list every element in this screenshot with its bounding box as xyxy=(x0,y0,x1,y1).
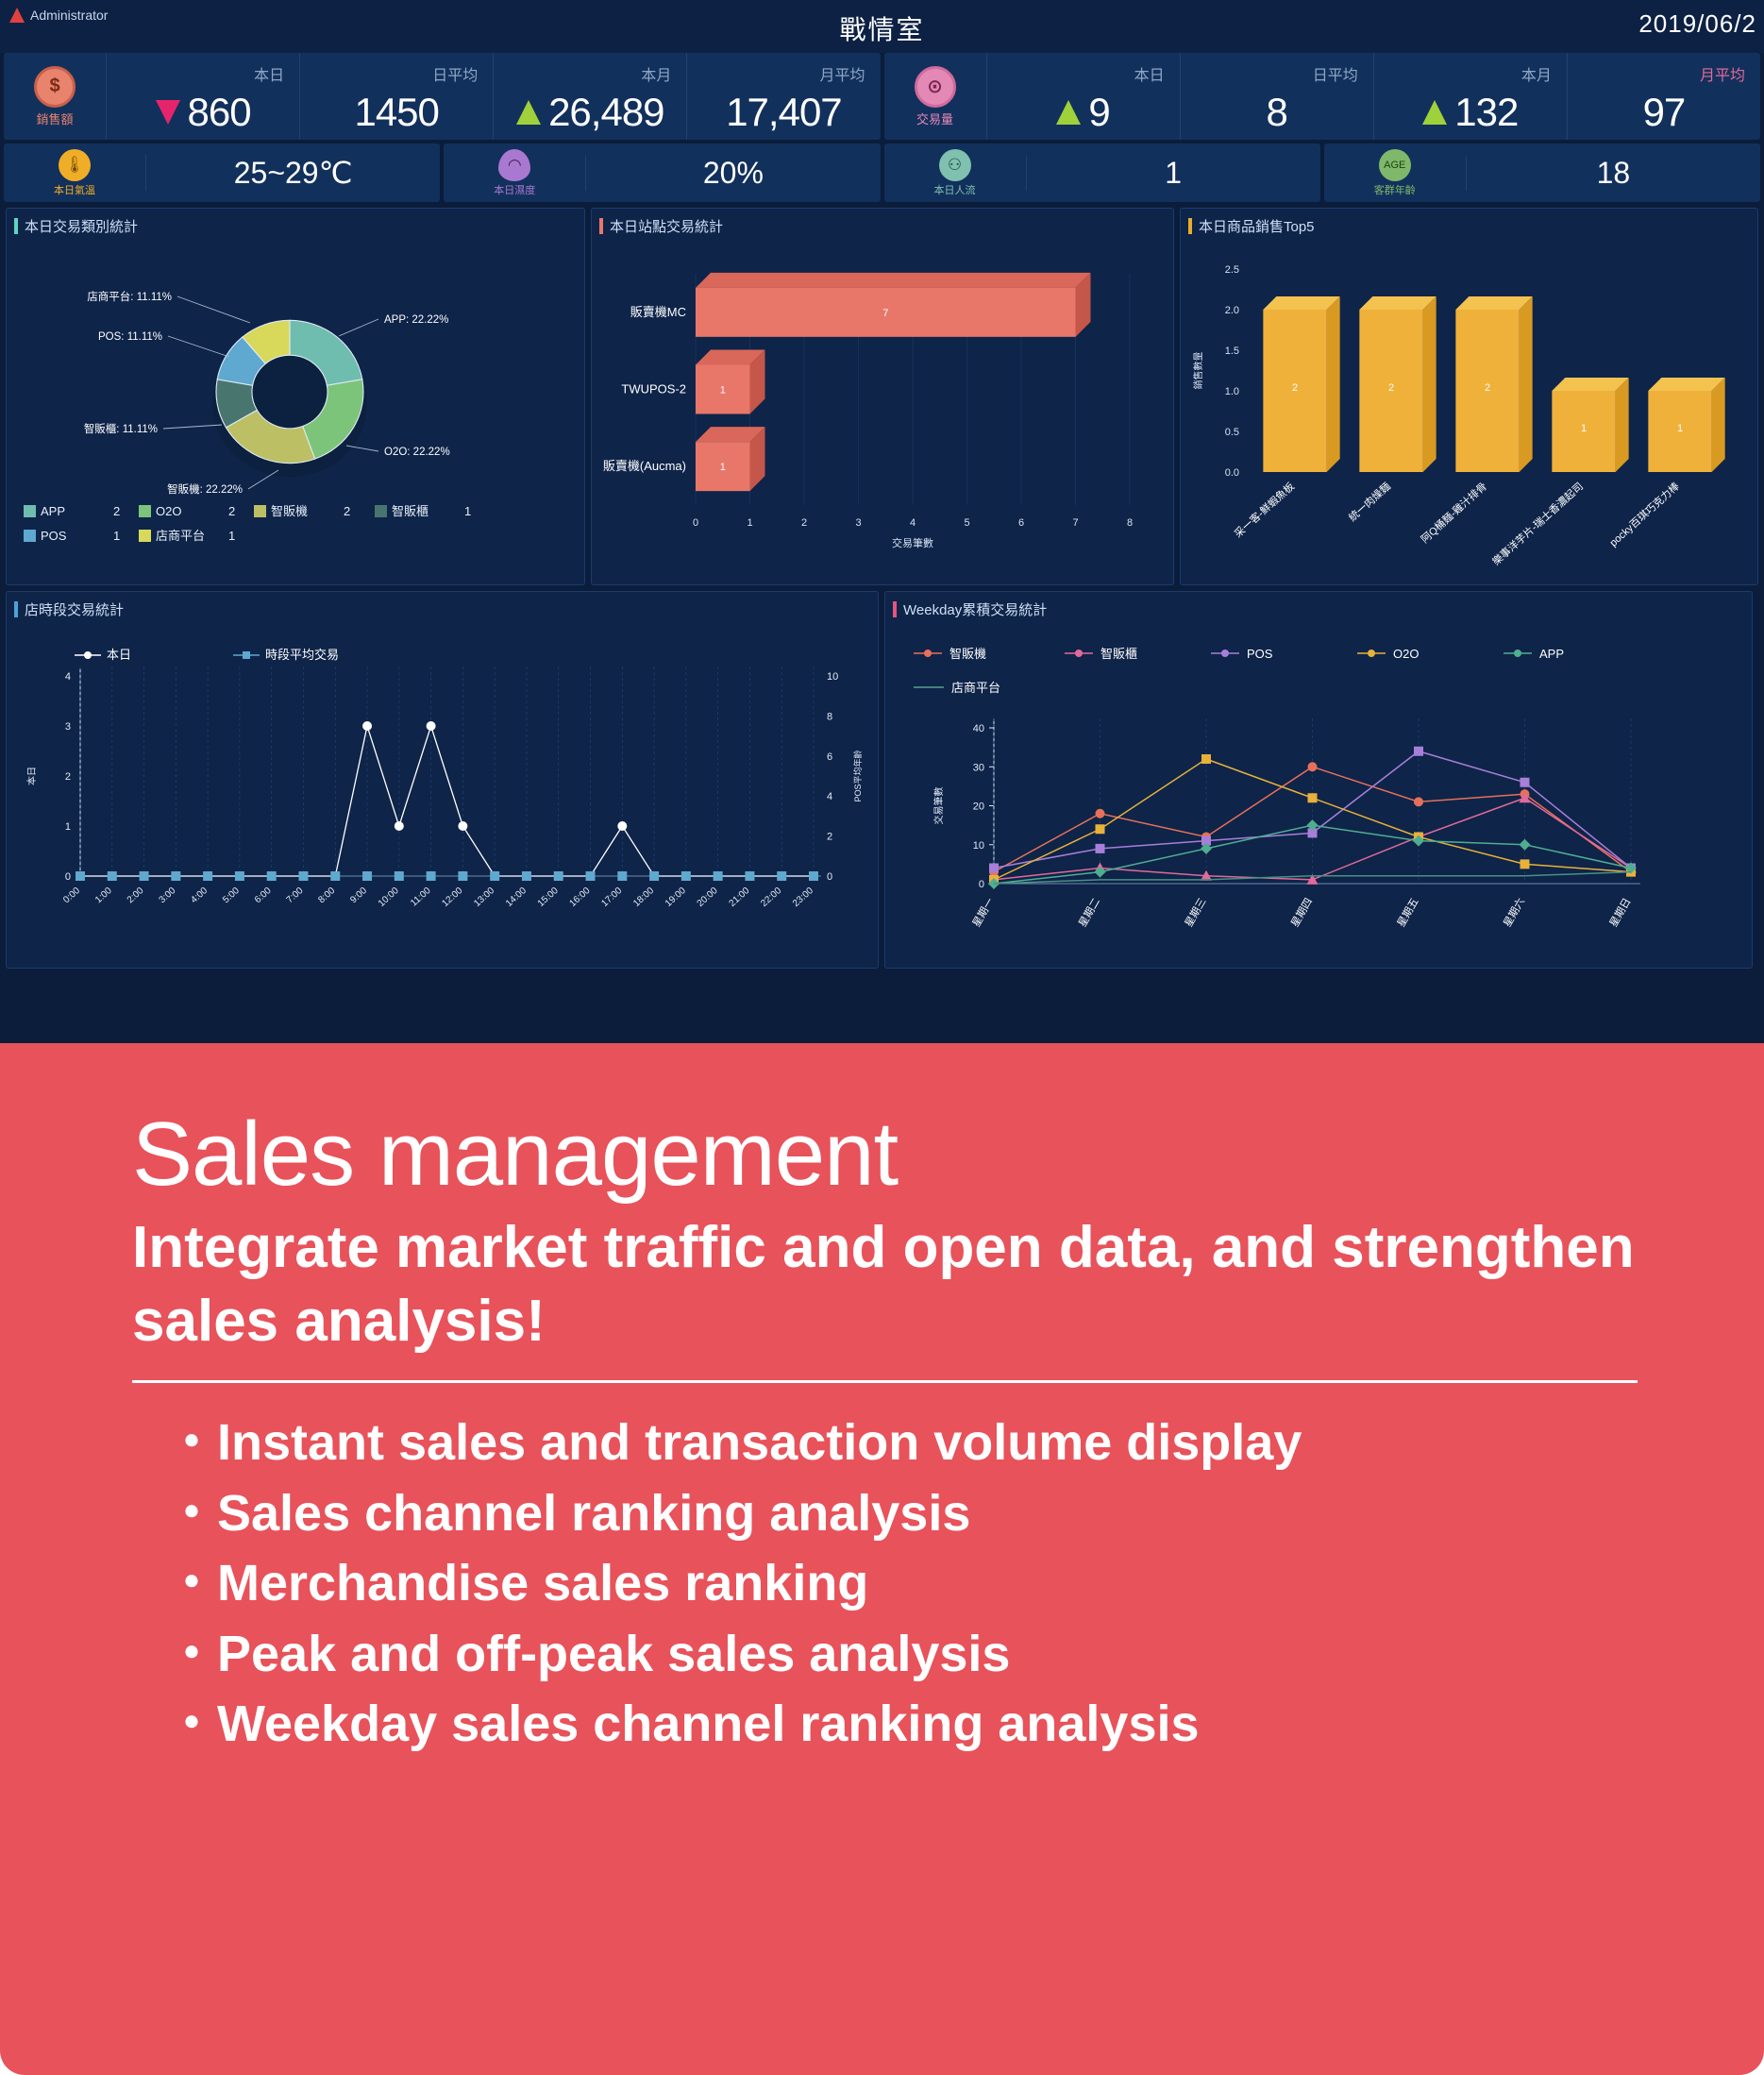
panel-site-stats: 本日站點交易統計 012345678交易筆數7販賣機MC1TWUPOS-21販賣… xyxy=(591,208,1174,585)
kpi-temperature-value: 25~29℃ xyxy=(145,155,440,191)
svg-text:16:00: 16:00 xyxy=(568,886,593,909)
sales-kpi-label: 銷售額 xyxy=(36,110,73,127)
svg-text:0.5: 0.5 xyxy=(1225,427,1239,438)
promo-divider xyxy=(132,1380,1638,1383)
svg-text:20: 20 xyxy=(973,801,984,813)
kpi-period-label: 本日 xyxy=(254,62,284,85)
svg-text:19:00: 19:00 xyxy=(664,886,688,909)
svg-text:1: 1 xyxy=(747,517,752,529)
panel-site-title-row: 本日站點交易統計 xyxy=(592,209,1173,236)
kpi-value: 860 xyxy=(188,93,251,132)
svg-text:18:00: 18:00 xyxy=(631,886,656,909)
svg-text:POS: POS xyxy=(1247,647,1273,661)
promo-section: Sales management Integrate market traffi… xyxy=(0,1043,1764,2075)
svg-text:3: 3 xyxy=(65,721,71,733)
panel-category-stats: 本日交易類別統計 店商平台: 11.11%APP: 22.22%POS: 11.… xyxy=(6,208,585,585)
promo-heading: Sales management xyxy=(132,1109,1674,1200)
panel-hourly-title-row: 店時段交易統計 xyxy=(7,592,878,619)
panel-top5-products: 本日商品銷售Top5 0.00.51.01.52.02.5銷售數量2采一客-鮮蝦… xyxy=(1180,208,1758,585)
svg-text:23:00: 23:00 xyxy=(791,886,815,909)
kpi-primary-row: $ 銷售額 本日 860 日平均 1450 本月 26,4 xyxy=(0,53,1764,140)
svg-text:POS: 11.11%: POS: 11.11% xyxy=(98,331,162,343)
panel-top5-title-row: 本日商品銷售Top5 xyxy=(1181,209,1757,236)
svg-text:販賣機MC: 販賣機MC xyxy=(630,305,686,319)
svg-text:1: 1 xyxy=(228,529,235,543)
svg-text:采一客-鮮蝦魚板: 采一客-鮮蝦魚板 xyxy=(1232,480,1297,540)
svg-text:2:00: 2:00 xyxy=(126,886,146,905)
trend-up-icon xyxy=(1422,100,1447,125)
kpi-period-label: 月平均 xyxy=(819,62,865,85)
svg-text:5:00: 5:00 xyxy=(221,886,242,905)
svg-text:8: 8 xyxy=(1127,517,1133,529)
svg-text:2: 2 xyxy=(1485,382,1490,394)
svg-text:pocky百琪巧克力棒: pocky百琪巧克力棒 xyxy=(1606,480,1682,549)
svg-text:2: 2 xyxy=(827,832,832,843)
kpi-period-label: 本月 xyxy=(641,62,671,85)
svg-text:14:00: 14:00 xyxy=(504,886,529,909)
svg-text:0: 0 xyxy=(827,871,832,883)
transaction-icon: ⊙ xyxy=(915,66,956,108)
panel-row-top: 本日交易類別統計 店商平台: 11.11%APP: 22.22%POS: 11.… xyxy=(0,202,1764,585)
kpi-trans-month-avg: 月平均 97 xyxy=(1567,53,1760,140)
kpi-age-group: AGE 客群年齡 18 xyxy=(1324,143,1760,202)
humidity-drop-icon: ◠ xyxy=(498,149,530,181)
kpi-value: 17,407 xyxy=(726,93,841,132)
svg-text:1: 1 xyxy=(113,529,120,543)
svg-text:2: 2 xyxy=(1292,382,1298,394)
svg-text:星期二: 星期二 xyxy=(1076,896,1102,929)
svg-text:統一肉燥麵: 統一肉燥麵 xyxy=(1346,480,1393,524)
svg-text:8:00: 8:00 xyxy=(316,886,337,905)
svg-text:1: 1 xyxy=(720,462,726,473)
svg-text:樂事洋芋片-瑞士香濃起司: 樂事洋芋片-瑞士香濃起司 xyxy=(1489,480,1586,568)
svg-text:0: 0 xyxy=(979,879,984,890)
svg-text:星期三: 星期三 xyxy=(1183,896,1209,929)
kpi-period-label: 日平均 xyxy=(1313,62,1358,85)
sales-coin-icon: $ xyxy=(34,66,76,108)
svg-text:10:00: 10:00 xyxy=(377,886,401,909)
svg-text:5: 5 xyxy=(964,517,969,529)
current-date: 2019/06/2 xyxy=(1638,9,1756,39)
panel-row-bottom: 店時段交易統計 本日時段平均交易012340246810本日POS平均年齡0:0… xyxy=(0,585,1764,969)
promo-bullet: ・Peak and off-peak sales analysis xyxy=(132,1619,1674,1690)
svg-text:APP: APP xyxy=(41,504,65,518)
svg-text:2: 2 xyxy=(801,517,807,529)
svg-text:時段平均交易: 時段平均交易 xyxy=(265,648,339,662)
kpi-value: 8 xyxy=(1267,93,1287,132)
svg-text:4: 4 xyxy=(827,791,832,802)
svg-text:1.5: 1.5 xyxy=(1225,346,1239,357)
kpi-sales-today: 本日 860 xyxy=(106,53,299,140)
svg-text:6: 6 xyxy=(827,751,832,763)
kpi-sales-daily-avg: 日平均 1450 xyxy=(299,53,493,140)
svg-text:2: 2 xyxy=(1388,382,1394,394)
svg-text:智販櫃: 智販櫃 xyxy=(1100,647,1137,661)
transaction-kpi-label: 交易量 xyxy=(916,110,953,127)
panel-top5-title: 本日商品銷售Top5 xyxy=(1199,216,1315,236)
panel-site-title: 本日站點交易統計 xyxy=(610,216,723,236)
svg-text:7: 7 xyxy=(882,308,888,319)
svg-text:2: 2 xyxy=(65,771,71,783)
kpi-period-label: 本日 xyxy=(1134,62,1165,85)
svg-text:O2O: O2O xyxy=(156,504,181,518)
svg-text:O2O: O2O xyxy=(1393,647,1419,661)
svg-text:6: 6 xyxy=(1018,517,1024,529)
svg-text:3:00: 3:00 xyxy=(158,886,178,905)
svg-text:7:00: 7:00 xyxy=(285,886,306,905)
kpi-temperature: 🌡 本日氣溫 25~29℃ xyxy=(4,143,440,202)
svg-text:店商平台: 店商平台 xyxy=(951,681,1000,695)
kpi-temperature-label: 本日氣溫 xyxy=(54,182,95,197)
trend-down-icon xyxy=(156,100,180,125)
kpi-group-sales: $ 銷售額 本日 860 日平均 1450 本月 26,4 xyxy=(4,53,881,140)
kpi-value: 97 xyxy=(1643,93,1686,132)
svg-text:2: 2 xyxy=(113,504,120,518)
kpi-age-group-value: 18 xyxy=(1466,156,1760,191)
svg-text:APP: APP xyxy=(1539,647,1564,661)
svg-text:交易筆數: 交易筆數 xyxy=(932,787,945,825)
age-group-icon: AGE xyxy=(1379,149,1411,181)
svg-text:21:00: 21:00 xyxy=(727,886,751,909)
kpi-sales-month: 本月 26,489 xyxy=(493,53,686,140)
kpi-value: 26,489 xyxy=(548,93,664,132)
transaction-kpi-icon-cell: ⊙ 交易量 xyxy=(884,66,986,127)
panel-accent-bar xyxy=(14,601,18,617)
kpi-period-label: 月平均 xyxy=(1700,62,1745,85)
promo-subheading: Integrate market traffic and open data, … xyxy=(132,1211,1674,1358)
svg-text:2.0: 2.0 xyxy=(1225,305,1239,316)
category-donut-chart: 店商平台: 11.11%APP: 22.22%POS: 11.11%智販櫃: 1… xyxy=(7,236,584,585)
svg-text:販賣機(Aucma): 販賣機(Aucma) xyxy=(603,459,686,473)
svg-text:0:00: 0:00 xyxy=(61,886,82,905)
trend-up-icon xyxy=(516,100,541,125)
panel-accent-bar xyxy=(599,218,603,234)
dashboard-header: Administrator 戰情室 2019/06/2 xyxy=(0,0,1764,53)
kpi-foot-traffic: ⚇ 本日人流 1 xyxy=(884,143,1320,202)
svg-text:本日: 本日 xyxy=(107,648,131,662)
svg-text:2: 2 xyxy=(344,504,350,518)
hourly-line-chart: 本日時段平均交易012340246810本日POS平均年齡0:001:002:0… xyxy=(7,619,878,969)
svg-text:4:00: 4:00 xyxy=(189,886,210,905)
svg-text:交易筆數: 交易筆數 xyxy=(892,536,933,549)
svg-text:1:00: 1:00 xyxy=(93,886,114,905)
svg-text:11:00: 11:00 xyxy=(409,886,433,909)
people-flow-icon: ⚇ xyxy=(939,149,971,181)
svg-text:智販機: 22.22%: 智販機: 22.22% xyxy=(167,482,243,496)
svg-text:本日: 本日 xyxy=(25,767,38,785)
svg-text:1: 1 xyxy=(1677,423,1683,434)
kpi-age-group-label: 客群年齡 xyxy=(1374,182,1416,197)
kpi-humidity-value: 20% xyxy=(585,156,880,191)
svg-text:7: 7 xyxy=(1072,517,1078,529)
svg-text:9:00: 9:00 xyxy=(348,886,369,905)
svg-text:4: 4 xyxy=(910,517,916,529)
svg-text:智販機: 智販機 xyxy=(949,647,986,661)
svg-text:4: 4 xyxy=(65,671,71,683)
promo-bullet: ・Merchandise sales ranking xyxy=(132,1548,1674,1619)
svg-text:30: 30 xyxy=(973,762,984,773)
promo-bullet: ・Sales channel ranking analysis xyxy=(132,1478,1674,1549)
svg-text:0.0: 0.0 xyxy=(1225,467,1239,479)
svg-text:星期日: 星期日 xyxy=(1607,896,1634,929)
kpi-value: 9 xyxy=(1088,93,1109,132)
sales-kpi-icon-cell: $ 銷售額 xyxy=(4,66,106,127)
svg-text:POS平均年齡: POS平均年齡 xyxy=(852,750,863,801)
panel-accent-bar xyxy=(14,218,18,234)
top5-bar-chart: 0.00.51.01.52.02.5銷售數量2采一客-鮮蝦魚板2統一肉燥麵2阿Q… xyxy=(1181,236,1757,585)
svg-text:阿Q桶麵-雞汁排骨: 阿Q桶麵-雞汁排骨 xyxy=(1418,480,1489,546)
svg-text:星期四: 星期四 xyxy=(1288,896,1315,929)
panel-category-title-row: 本日交易類別統計 xyxy=(7,209,584,236)
svg-text:智販機: 智販機 xyxy=(271,504,308,518)
kpi-foot-traffic-value: 1 xyxy=(1026,156,1320,191)
weekday-line-chart: 智販機智販櫃POSO2OAPP店商平台010203040交易筆數星期一星期二星期… xyxy=(885,619,1752,969)
svg-text:1.0: 1.0 xyxy=(1225,386,1239,397)
svg-text:星期一: 星期一 xyxy=(970,896,997,929)
svg-text:O2O: 22.22%: O2O: 22.22% xyxy=(384,447,450,458)
svg-text:TWUPOS-2: TWUPOS-2 xyxy=(621,382,686,396)
svg-text:智販櫃: 11.11%: 智販櫃: 11.11% xyxy=(84,422,158,435)
kpi-sales-month-avg: 月平均 17,407 xyxy=(686,53,880,140)
panel-weekday-title: Weekday累積交易統計 xyxy=(903,599,1047,619)
svg-text:智販櫃: 智販櫃 xyxy=(392,504,428,518)
kpi-value: 132 xyxy=(1454,93,1518,132)
svg-text:1: 1 xyxy=(464,504,471,518)
svg-text:13:00: 13:00 xyxy=(472,886,496,909)
kpi-period-label: 本月 xyxy=(1521,62,1552,85)
panel-weekday-title-row: Weekday累積交易統計 xyxy=(885,592,1752,619)
promo-bullet: ・Instant sales and transaction volume di… xyxy=(132,1408,1674,1478)
panel-accent-bar xyxy=(1188,218,1192,234)
trend-up-icon xyxy=(1056,100,1081,125)
svg-text:10: 10 xyxy=(973,840,984,852)
svg-text:1: 1 xyxy=(1581,423,1587,434)
svg-text:銷售數量: 銷售數量 xyxy=(1192,352,1204,390)
kpi-trans-month: 本月 132 xyxy=(1373,53,1567,140)
kpi-value: 1450 xyxy=(354,93,438,132)
svg-text:12:00: 12:00 xyxy=(440,886,464,909)
svg-text:20:00: 20:00 xyxy=(696,886,720,909)
kpi-trans-today: 本日 9 xyxy=(986,53,1180,140)
svg-text:22:00: 22:00 xyxy=(759,886,783,909)
kpi-trans-daily-avg: 日平均 8 xyxy=(1180,53,1373,140)
svg-text:8: 8 xyxy=(827,711,832,722)
svg-text:2: 2 xyxy=(228,504,235,518)
svg-text:40: 40 xyxy=(973,723,984,734)
page-title: 戰情室 xyxy=(0,9,1764,47)
svg-text:1: 1 xyxy=(720,385,726,396)
svg-text:3: 3 xyxy=(855,517,861,529)
site-bar-chart: 012345678交易筆數7販賣機MC1TWUPOS-21販賣機(Aucma) xyxy=(592,236,1173,585)
svg-text:2.5: 2.5 xyxy=(1225,264,1239,276)
svg-text:0: 0 xyxy=(693,517,698,529)
svg-text:APP: 22.22%: APP: 22.22% xyxy=(384,314,448,326)
panel-hourly-title: 店時段交易統計 xyxy=(25,599,124,619)
svg-text:店商平台: 店商平台 xyxy=(156,529,205,543)
kpi-secondary-row: 🌡 本日氣溫 25~29℃ ◠ 本日濕度 20% ⚇ 本日人流 1 AGE 客群… xyxy=(0,140,1764,202)
panel-weekday-stats: Weekday累積交易統計 智販機智販櫃POSO2OAPP店商平台0102030… xyxy=(884,591,1753,969)
panel-hourly-stats: 店時段交易統計 本日時段平均交易012340246810本日POS平均年齡0:0… xyxy=(6,591,879,969)
svg-text:POS: POS xyxy=(41,529,67,543)
panel-accent-bar xyxy=(893,601,897,617)
kpi-group-transactions: ⊙ 交易量 本日 9 日平均 8 本月 132 xyxy=(884,53,1761,140)
thermometer-icon: 🌡 xyxy=(59,149,91,181)
panel-category-title: 本日交易類別統計 xyxy=(25,216,138,236)
svg-text:15:00: 15:00 xyxy=(536,886,561,909)
kpi-foot-traffic-label: 本日人流 xyxy=(934,182,976,197)
svg-text:6:00: 6:00 xyxy=(253,886,274,905)
dashboard-screenshot: Administrator 戰情室 2019/06/2 $ 銷售額 本日 860… xyxy=(0,0,1764,1043)
kpi-humidity-label: 本日濕度 xyxy=(494,182,535,197)
svg-text:店商平台: 11.11%: 店商平台: 11.11% xyxy=(87,290,172,303)
kpi-period-label: 日平均 xyxy=(432,62,478,85)
svg-text:星期五: 星期五 xyxy=(1395,896,1421,929)
promo-bullet: ・Weekday sales channel ranking analysis xyxy=(132,1689,1674,1760)
svg-text:0: 0 xyxy=(65,871,71,883)
svg-text:1: 1 xyxy=(65,821,71,833)
svg-text:星期六: 星期六 xyxy=(1501,896,1527,929)
kpi-humidity: ◠ 本日濕度 20% xyxy=(444,143,880,202)
svg-text:17:00: 17:00 xyxy=(599,886,624,909)
svg-text:10: 10 xyxy=(827,671,838,683)
